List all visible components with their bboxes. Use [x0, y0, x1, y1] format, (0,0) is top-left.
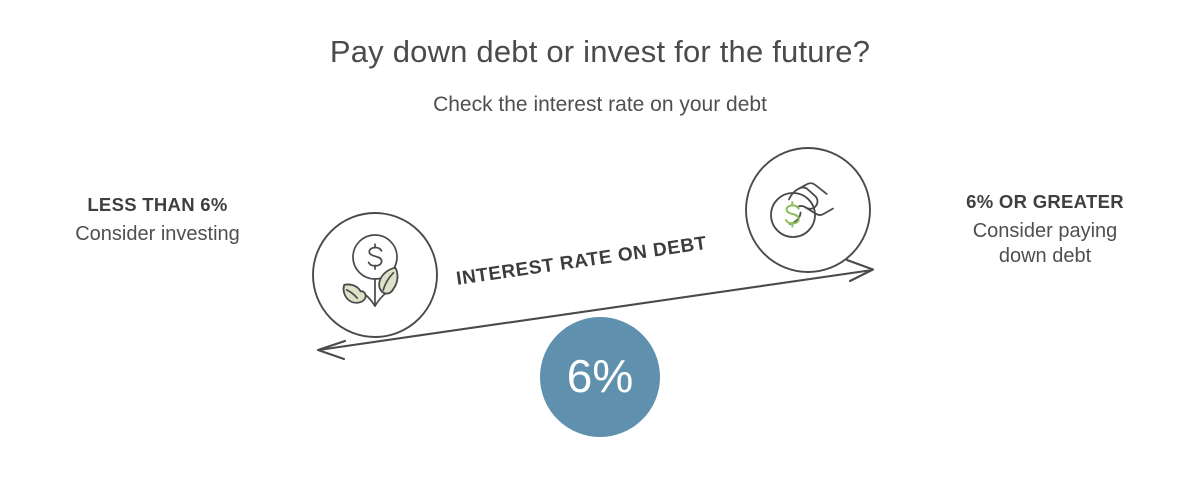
threshold-badge-value: 6%: [567, 353, 633, 399]
infographic-canvas: Pay down debt or invest for the future? …: [0, 0, 1200, 478]
right-option-icon-circle: [746, 148, 870, 272]
threshold-badge: 6%: [540, 317, 660, 437]
left-option-icon-circle: [313, 213, 437, 337]
